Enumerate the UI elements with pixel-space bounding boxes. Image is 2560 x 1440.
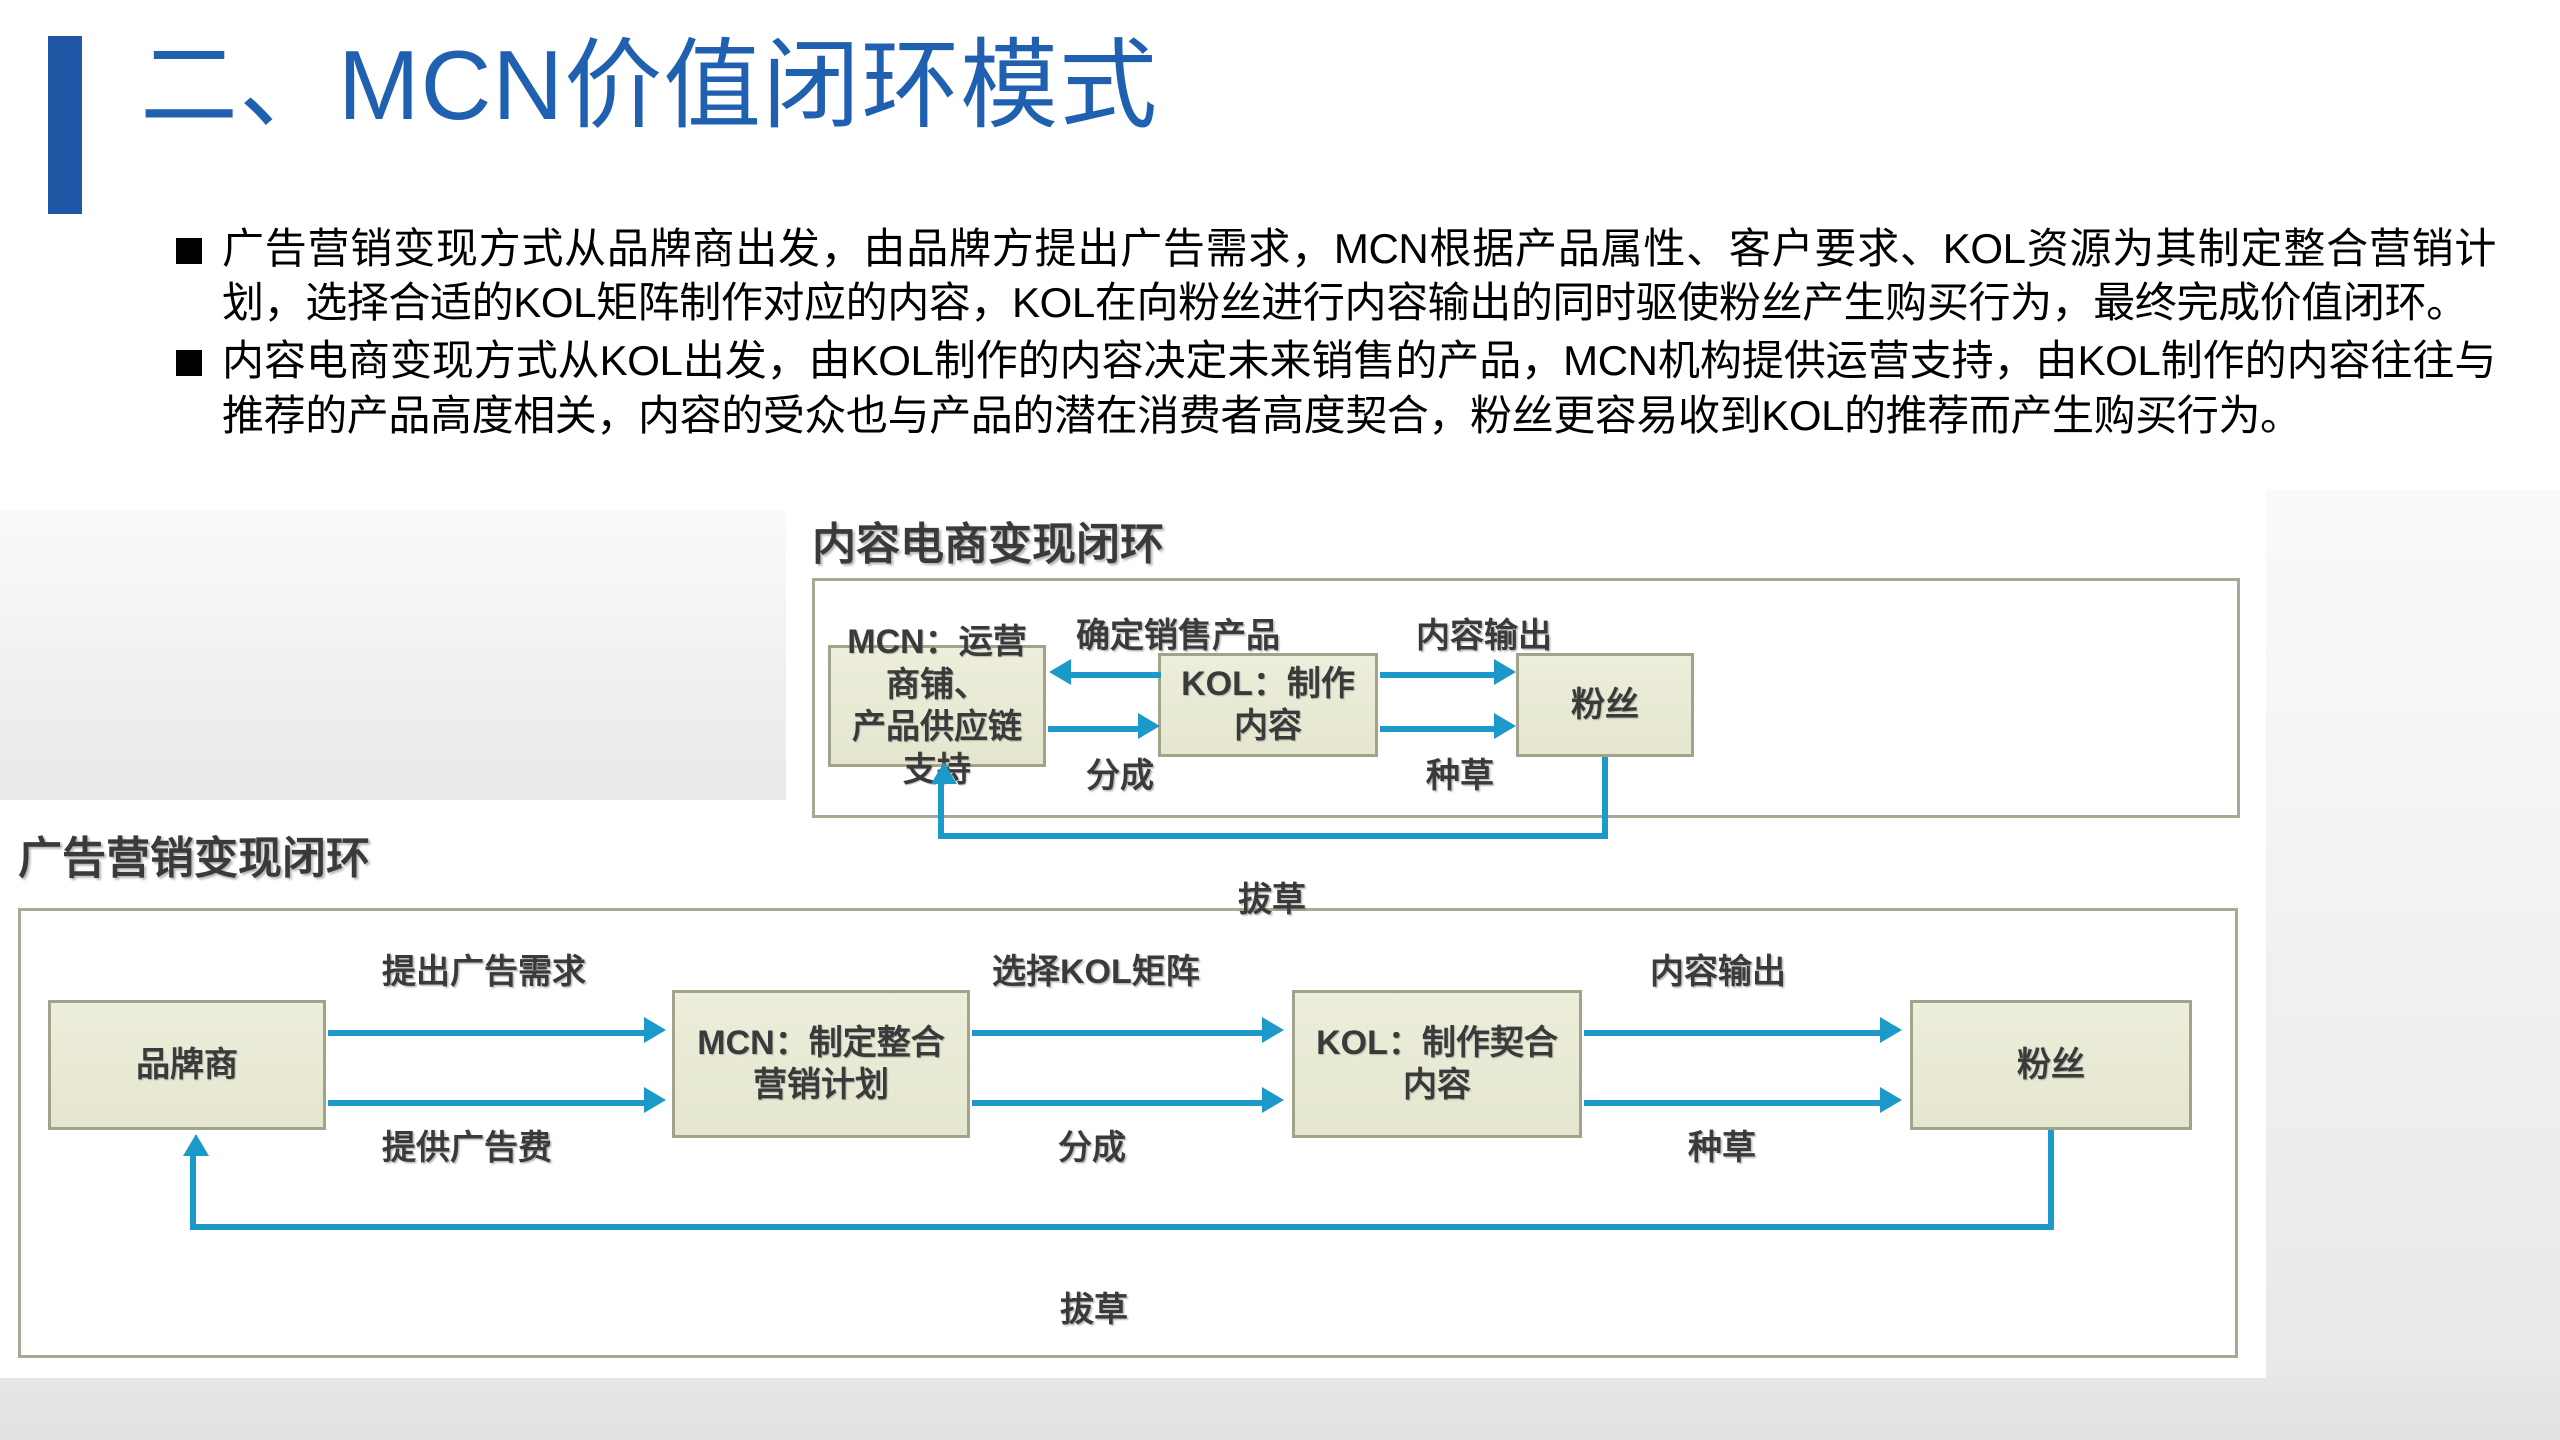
arrow-head-right-icon <box>644 1017 666 1043</box>
arrow-head-right-icon <box>1138 713 1160 739</box>
arrow-up-to-brand <box>190 1152 196 1228</box>
node-mcn-line2: 营销计划 <box>753 1064 889 1107</box>
node-fans[interactable]: 粉丝 <box>1516 653 1694 757</box>
node-kol[interactable]: KOL：制作契合 内容 <box>1292 990 1582 1138</box>
bullet-list: 广告营销变现方式从品牌商出发，由品牌方提出广告需求，MCN根据产品属性、客户要求… <box>176 222 2496 447</box>
node-fans-label: 粉丝 <box>2017 1044 2085 1087</box>
arrow-kol-to-fans-seed <box>1380 726 1496 732</box>
diagram-content-ecommerce: 内容电商变现闭环 MCN：运营商铺、 产品供应链支持 KOL：制作内容 粉丝 确… <box>786 490 2266 838</box>
arrow-head-right-icon <box>644 1087 666 1113</box>
edge-label-content-output: 内容输出 <box>1416 608 1552 657</box>
list-item: 内容电商变现方式从KOL出发，由KOL制作的内容决定未来销售的产品，MCN机构提… <box>176 334 2496 442</box>
node-mcn-line1: MCN：运营商铺、 <box>837 621 1037 706</box>
edge-label-pull-grass: 拔草 <box>1238 872 1306 921</box>
figure-title: 广告营销变现闭环 <box>18 822 370 886</box>
edge-label-pull-grass: 拔草 <box>1060 1282 1128 1331</box>
edge-label-revenue-share: 分成 <box>1086 748 1154 797</box>
slide-canvas: 二、MCN价值闭环模式 广告营销变现方式从品牌商出发，由品牌方提出广告需求，MC… <box>0 0 2560 1440</box>
node-fans-label: 粉丝 <box>1571 684 1639 727</box>
diagram-ad-marketing: 广告营销变现闭环 品牌商 MCN：制定整合 营销计划 KOL：制作契合 内容 粉… <box>0 800 2266 1378</box>
edge-label-ad-request: 提出广告需求 <box>382 944 586 993</box>
edge-label-content-output: 内容输出 <box>1650 944 1786 993</box>
node-fans[interactable]: 粉丝 <box>1910 1000 2192 1130</box>
arrow-mcn-to-kol-select <box>972 1030 1264 1036</box>
arrow-head-right-icon <box>1494 713 1516 739</box>
node-kol[interactable]: KOL：制作内容 <box>1158 653 1378 757</box>
page-title: 二、MCN价值闭环模式 <box>140 32 1158 140</box>
arrow-brand-to-mcn-request <box>328 1030 646 1036</box>
square-bullet-icon <box>176 238 202 264</box>
node-kol-label: KOL：制作内容 <box>1167 663 1369 748</box>
arrow-kol-to-fans-output <box>1380 672 1496 678</box>
image-backdrop-left <box>0 510 786 805</box>
figure-title: 内容电商变现闭环 <box>812 508 1164 572</box>
arrow-fans-down <box>1602 757 1608 839</box>
node-mcn[interactable]: MCN：运营商铺、 产品供应链支持 <box>828 645 1046 767</box>
figure-content-ecommerce: 内容电商变现闭环 MCN：运营商铺、 产品供应链支持 KOL：制作内容 粉丝 确… <box>786 490 2266 838</box>
node-kol-line1: KOL：制作契合 <box>1316 1022 1558 1065</box>
edge-label-confirm-product: 确定销售产品 <box>1076 608 1280 657</box>
edge-label-seed-grass: 种草 <box>1688 1120 1756 1169</box>
arrow-head-up-icon <box>931 762 957 784</box>
edge-label-seed-grass: 种草 <box>1426 748 1494 797</box>
edge-label-select-kol-matrix: 选择KOL矩阵 <box>992 944 1200 993</box>
list-item: 广告营销变现方式从品牌商出发，由品牌方提出广告需求，MCN根据产品属性、客户要求… <box>176 222 2496 330</box>
node-mcn[interactable]: MCN：制定整合 营销计划 <box>672 990 970 1138</box>
edge-label-ad-fee: 提供广告费 <box>382 1120 552 1169</box>
arrow-head-right-icon <box>1880 1087 1902 1113</box>
figure-ad-marketing: 广告营销变现闭环 品牌商 MCN：制定整合 营销计划 KOL：制作契合 内容 粉… <box>0 800 2266 1378</box>
arrow-head-right-icon <box>1880 1017 1902 1043</box>
edge-label-revenue-share: 分成 <box>1058 1120 1126 1169</box>
arrow-brand-to-mcn-fee <box>328 1100 646 1106</box>
bullet-text: 内容电商变现方式从KOL出发，由KOL制作的内容决定未来销售的产品，MCN机构提… <box>222 334 2496 442</box>
image-backdrop-bottom <box>0 1375 2560 1440</box>
node-brand-label: 品牌商 <box>136 1044 238 1087</box>
image-backdrop-right <box>2265 490 2560 1380</box>
arrow-mcn-to-kol-share <box>972 1100 1264 1106</box>
bullet-text: 广告营销变现方式从品牌商出发，由品牌方提出广告需求，MCN根据产品属性、客户要求… <box>222 222 2496 330</box>
arrow-head-right-icon <box>1262 1087 1284 1113</box>
arrow-head-right-icon <box>1494 659 1516 685</box>
arrow-head-up-icon <box>183 1134 209 1156</box>
arrow-kol-to-mcn <box>1071 672 1161 678</box>
arrow-head-left-icon <box>1049 659 1071 685</box>
arrow-return-horizontal <box>938 833 1608 839</box>
node-mcn-line1: MCN：制定整合 <box>697 1022 944 1065</box>
arrow-head-right-icon <box>1262 1017 1284 1043</box>
arrow-kol-to-fans-output <box>1584 1030 1882 1036</box>
node-kol-line2: 内容 <box>1403 1064 1471 1107</box>
title-accent-bar <box>48 36 82 214</box>
arrow-up-to-mcn <box>938 780 944 836</box>
arrow-return-horizontal <box>190 1224 2054 1230</box>
arrow-fans-down <box>2048 1130 2054 1230</box>
arrow-kol-to-fans-seed <box>1584 1100 1882 1106</box>
square-bullet-icon <box>176 350 202 376</box>
node-brand[interactable]: 品牌商 <box>48 1000 326 1130</box>
arrow-mcn-to-kol <box>1048 726 1140 732</box>
